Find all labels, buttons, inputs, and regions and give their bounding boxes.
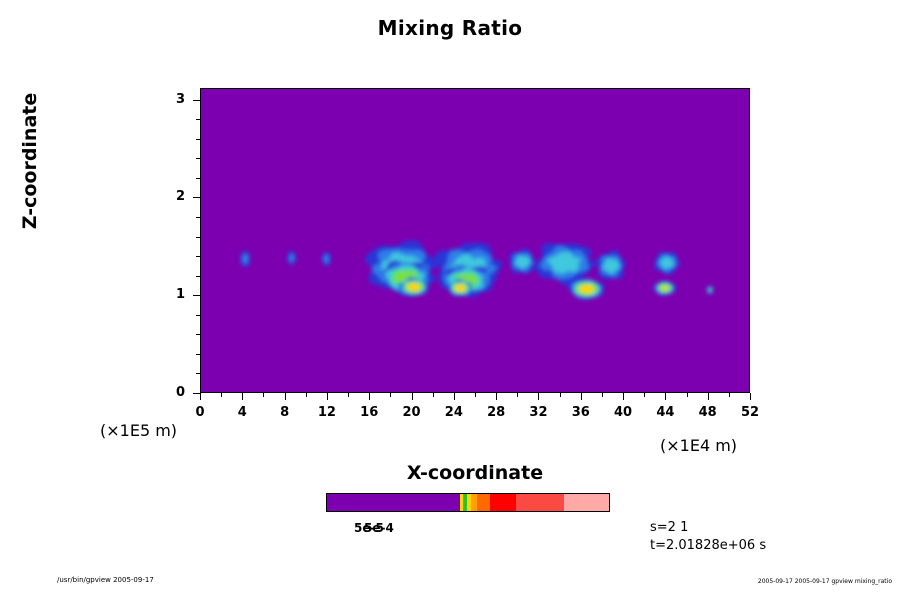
x-tick-minor (433, 393, 434, 397)
x-tick-minor (348, 393, 349, 397)
y-tick (193, 393, 200, 394)
x-tick (538, 393, 539, 400)
x-axis-multiplier-left: (×1E5 m) (100, 421, 177, 440)
colorbar-tick-high: 5e-4 (364, 521, 394, 535)
x-tick (708, 393, 709, 400)
x-tick-minor (221, 393, 222, 397)
y-tick-minor (196, 158, 200, 159)
colorbar-tick-labels: 5e-5 5e-4 (326, 521, 610, 537)
x-tick-label: 8 (265, 405, 305, 420)
contour-plot-area[interactable] (200, 88, 750, 393)
x-tick-minor (517, 393, 518, 397)
y-tick-minor (196, 276, 200, 277)
y-tick-minor (196, 373, 200, 374)
y-tick-minor (196, 139, 200, 140)
x-tick-minor (390, 393, 391, 397)
y-tick (193, 100, 200, 101)
x-tick-label: 44 (645, 405, 685, 420)
x-tick-minor (560, 393, 561, 397)
y-axis-title: Z-coordinate (19, 71, 41, 251)
x-tick (665, 393, 666, 400)
x-tick (285, 393, 286, 400)
x-tick-minor (602, 393, 603, 397)
x-tick-minor (306, 393, 307, 397)
y-tick-minor (196, 178, 200, 179)
colorbar-segment (490, 494, 516, 511)
y-tick-label: 1 (155, 287, 185, 302)
x-tick-label: 20 (392, 405, 432, 420)
x-tick (623, 393, 624, 400)
mixing-ratio-field (201, 89, 749, 392)
x-tick-label: 24 (434, 405, 474, 420)
x-axis-title: X-coordinate (325, 462, 625, 484)
x-tick-minor (263, 393, 264, 397)
x-tick (242, 393, 243, 400)
y-tick (193, 295, 200, 296)
colorbar-segment (327, 494, 460, 511)
y-tick-label: 0 (155, 385, 185, 400)
x-tick-label: 36 (561, 405, 601, 420)
annotation-time: t=2.01828e+06 s (650, 538, 766, 553)
x-tick-minor (687, 393, 688, 397)
y-tick-minor (196, 354, 200, 355)
y-tick-minor (196, 217, 200, 218)
x-tick-label: 4 (222, 405, 262, 420)
colorbar-segment (564, 494, 609, 511)
y-tick-label: 2 (155, 189, 185, 204)
colorbar-gradient (326, 493, 610, 512)
footer-command: /usr/bin/gpview 2005-09-17 (57, 576, 154, 584)
y-tick (193, 197, 200, 198)
colorbar[interactable] (326, 493, 610, 512)
x-tick (750, 393, 751, 400)
colorbar-segment (477, 494, 490, 511)
x-tick-label: 52 (730, 405, 770, 420)
x-tick-label: 48 (688, 405, 728, 420)
x-tick-label: 0 (180, 405, 220, 420)
x-tick (496, 393, 497, 400)
y-tick-minor (196, 119, 200, 120)
y-tick-minor (196, 256, 200, 257)
x-tick (412, 393, 413, 400)
colorbar-segment (516, 494, 564, 511)
x-tick-label: 16 (349, 405, 389, 420)
x-tick (454, 393, 455, 400)
x-tick-label: 12 (307, 405, 347, 420)
page-title: Mixing Ratio (0, 16, 900, 40)
y-tick-minor (196, 237, 200, 238)
x-tick-minor (475, 393, 476, 397)
x-tick (581, 393, 582, 400)
x-axis-multiplier-right: (×1E4 m) (660, 436, 737, 455)
y-tick-minor (196, 334, 200, 335)
x-tick (200, 393, 201, 400)
y-tick-label: 3 (155, 92, 185, 107)
x-tick-label: 40 (603, 405, 643, 420)
y-tick-minor (196, 315, 200, 316)
x-tick-label: 32 (518, 405, 558, 420)
x-tick (369, 393, 370, 400)
x-tick (327, 393, 328, 400)
x-tick-minor (729, 393, 730, 397)
annotation-sigma: s=2 1 (650, 520, 688, 535)
x-tick-label: 28 (476, 405, 516, 420)
x-tick-minor (644, 393, 645, 397)
footer-metadata: 2005-09-17 2005-09-17 gpview mixing_rati… (758, 578, 892, 585)
